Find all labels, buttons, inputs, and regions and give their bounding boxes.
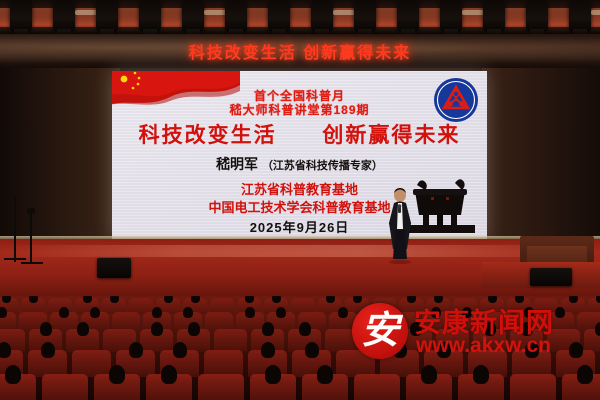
side-speaker-box [530,268,572,286]
audience-member [473,365,489,383]
slide-headline-right: 创新赢得未来 [322,124,460,147]
audience-member [265,365,281,383]
ceiling-light-bar [591,10,600,15]
stage-light [354,2,376,32]
watermark-logo-glyph: 安 [352,303,408,359]
audience-seat [198,374,244,400]
audience-member [421,365,437,383]
stage-monitor-speaker [97,258,131,278]
stage-light [139,2,161,32]
led-banner: 科技改变生活 创新赢得未来 [0,34,600,68]
audience-member [173,342,187,358]
mic-stand-right-base [21,262,43,264]
slide-date: 2025年9月26日 [112,217,487,236]
stage-light [440,2,462,32]
audience-member [272,296,281,303]
audience-seat [214,329,247,352]
audience-seat [72,350,111,377]
slide-org-line1: 江苏省科普教育基地 [112,179,487,198]
auditorium-photo: 科技改变生活 创新赢得未来 [0,0,600,400]
audience-member [83,296,92,303]
presenter-with-microphone [383,186,417,264]
audience-member [2,296,11,303]
slide-subtitle-line2: 嵇大师科普讲堂第189期 [112,101,487,118]
stage-light [96,2,118,32]
lighting-truss [0,27,600,34]
audience-member [245,307,255,319]
slide-headline-left: 科技改变生活 [139,124,277,147]
audience-member [317,365,333,383]
audience-member [40,322,52,336]
stage-floor-sheen [0,245,600,257]
microphone-head [27,208,35,214]
audience-member [151,322,163,336]
audience-member [164,296,173,303]
audience-member [129,342,143,358]
audience-member [299,322,311,336]
slide-speaker-name: 嵇明军 [216,156,258,172]
stage-light [182,2,204,32]
audience-member [338,307,348,319]
audience-member [191,296,200,303]
audience-member [109,365,125,383]
stage-light [569,2,591,32]
audience-member [0,307,7,319]
stage-light [53,2,75,32]
audience-member [326,296,335,303]
slide-headline: 科技改变生活 创新赢得未来 [112,119,487,149]
microphone-stand-left [14,196,16,262]
audience-member [161,365,177,383]
audience-member [29,296,38,303]
audience-member [577,365,593,383]
back-wall-right [482,68,600,248]
stage-light [526,2,548,32]
stage-light [268,2,290,32]
stage-light [483,2,505,32]
audience-seat [42,374,88,400]
audience-member [41,342,55,358]
slide-speaker-line: 嵇明军 （江苏省科技传播专家） [112,154,487,174]
audience-member [0,342,11,358]
audience-member [261,342,275,358]
audience-member [595,322,600,336]
slide-speaker-role: （江苏省科技传播专家） [262,160,383,172]
audience-member [59,307,69,319]
stage-light [10,2,32,32]
audience-seat [510,374,556,400]
audience-member [276,307,286,319]
slide-org-line2: 中国电工技术学会科普教育基地 [112,197,487,216]
audience-member [152,307,162,319]
audience-member [188,322,200,336]
audience-member [245,296,254,303]
audience-member [77,322,89,336]
audience-seat [354,374,400,400]
audience-member [90,307,100,319]
stage-light [397,2,419,32]
audience-member [110,296,119,303]
stage-light [311,2,333,32]
mic-stand-left-base [4,258,26,260]
audience-member [305,342,319,358]
audience-member [5,365,21,383]
projection-screen: 首个全国科普月 嵇大师科普讲堂第189期 科技改变生活 创新赢得未来 嵇明军 （… [112,71,487,239]
led-banner-text: 科技改变生活 创新赢得未来 [189,39,411,63]
watermark-site-url: www.akxw.cn [416,334,551,358]
audience-member [183,307,193,319]
microphone-stand-right [30,212,32,264]
stage-light [225,2,247,32]
audience-member [262,322,274,336]
audience-seat [204,350,243,377]
back-wall-left [0,68,120,248]
watermark: 安 安康新闻网 www.akxw.cn [352,303,592,361]
